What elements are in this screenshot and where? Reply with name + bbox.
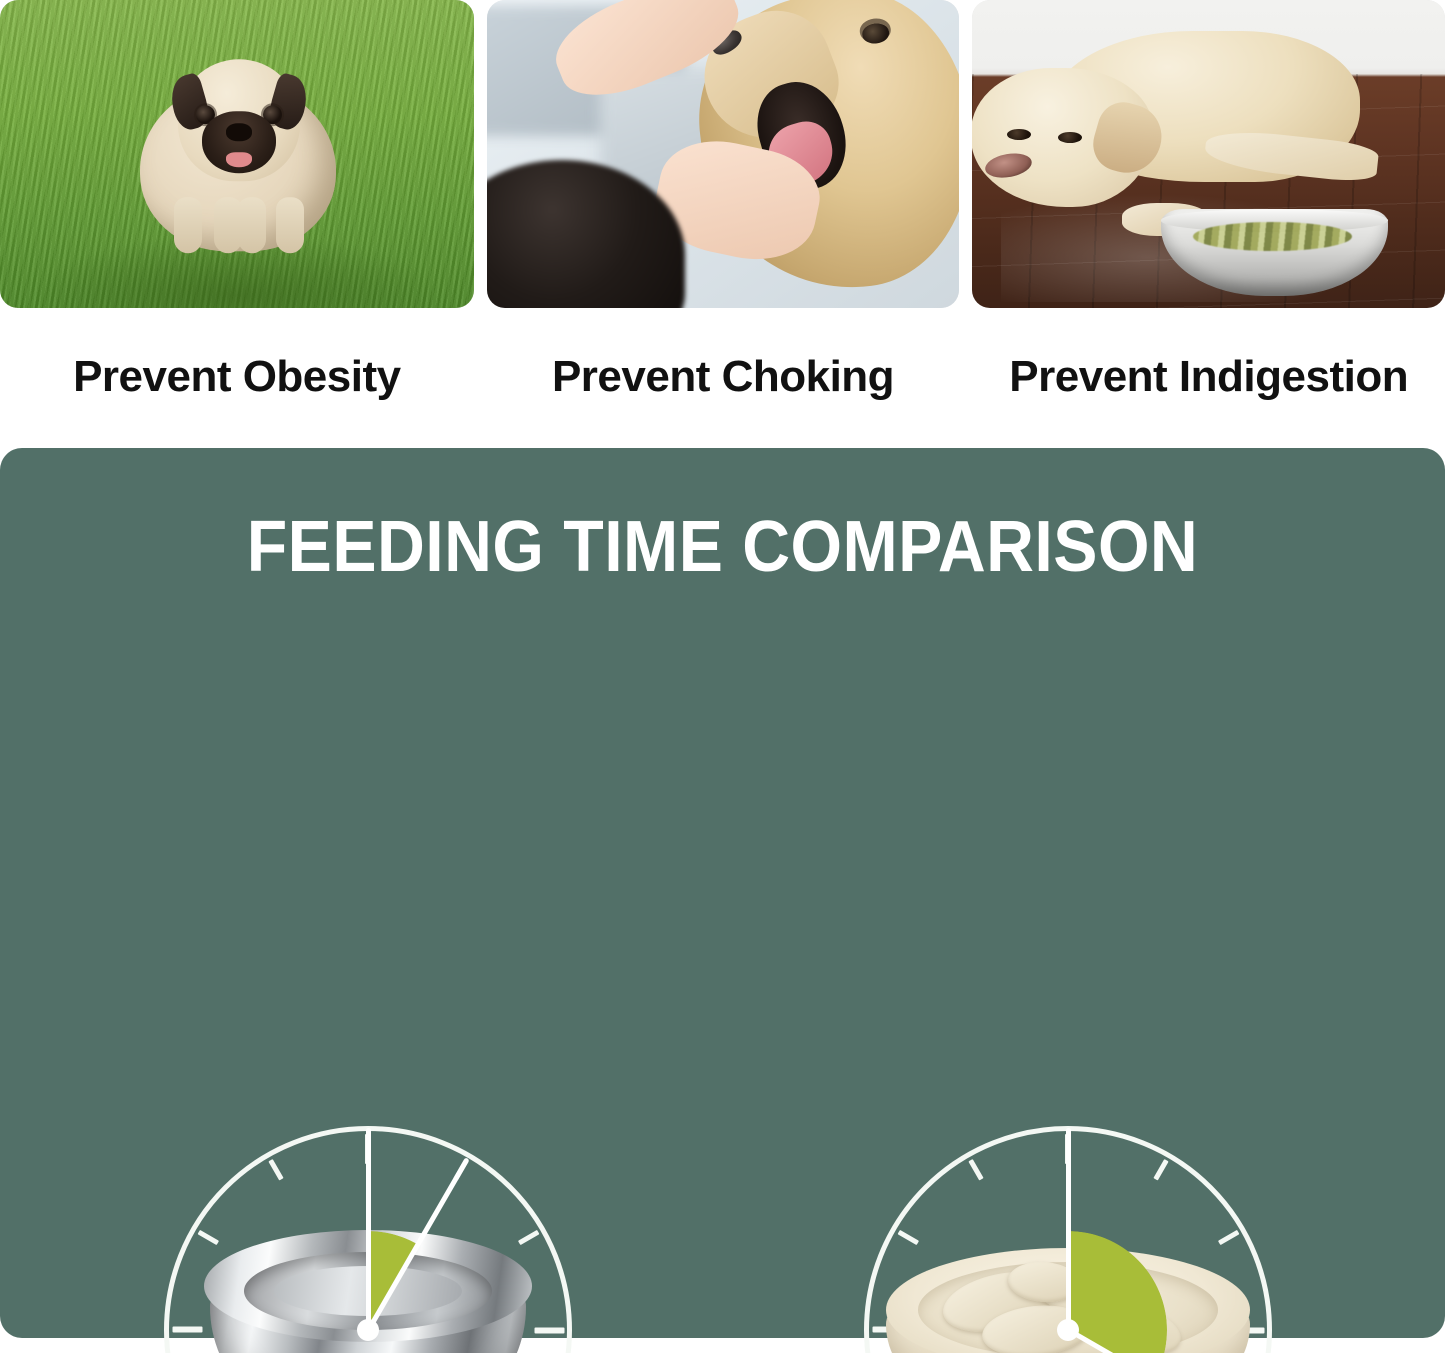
- clock-normal-bowl: [164, 1126, 572, 1353]
- clock-hub: [357, 1319, 379, 1341]
- clock-hand-start: [1066, 1128, 1071, 1330]
- page-title: FEEDING TIME COMPARISON: [58, 506, 1387, 588]
- benefit-card-indigestion: Prevent Indigestion: [972, 0, 1445, 440]
- clock-hub: [1057, 1319, 1079, 1341]
- benefit-card-choking: Prevent Choking: [487, 0, 960, 440]
- product-infographic: Prevent Obesity: [0, 0, 1445, 1353]
- benefit-label-indigestion: Prevent Indigestion: [972, 308, 1445, 440]
- benefit-card-obesity: Prevent Obesity: [0, 0, 474, 440]
- feeding-time-comparison-panel: FEEDING TIME COMPARISON: [0, 448, 1445, 1338]
- photo-overweight-pug: [0, 0, 474, 308]
- photo-dog-mouth-check: [487, 0, 960, 308]
- photo-lab-with-bowl: [972, 0, 1445, 308]
- benefit-label-choking: Prevent Choking: [487, 308, 960, 440]
- clock-slow-feeding-bowl: [864, 1126, 1272, 1353]
- benefits-strip: Prevent Obesity: [0, 0, 1445, 440]
- clock-hand-start: [366, 1128, 371, 1330]
- benefit-label-obesity: Prevent Obesity: [0, 308, 474, 440]
